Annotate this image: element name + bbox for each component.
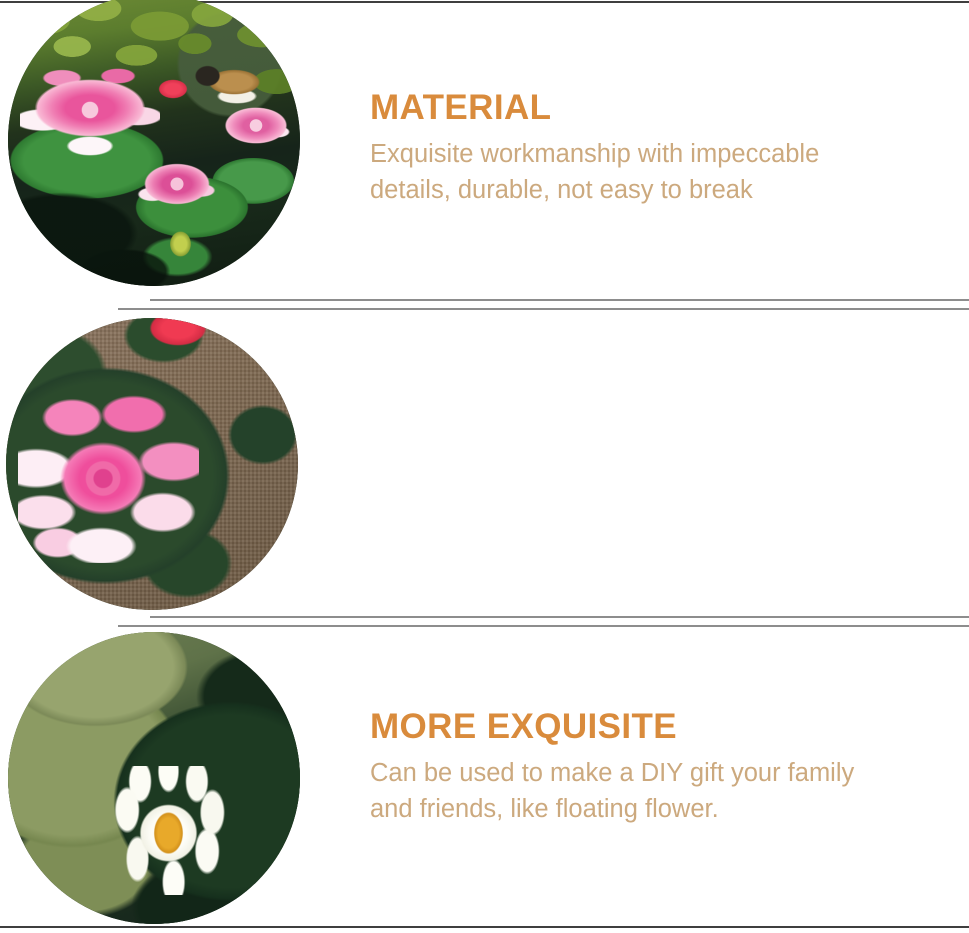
purple-flower — [240, 406, 298, 476]
section-divider-2 — [0, 616, 969, 630]
feature-section-material: MATERIAL Exquisite workmanship with impe… — [0, 0, 969, 301]
divider-line-upper — [150, 299, 969, 301]
pink-lotus-middle — [136, 152, 218, 216]
divider-line-lower — [118, 625, 969, 627]
divider-line-lower — [118, 308, 969, 310]
feature-heading: MATERIAL — [370, 88, 900, 127]
section-divider-1 — [0, 299, 969, 313]
lotus-pond-photo — [8, 0, 300, 286]
feature-section-practical: PRACTICAL Made of EVA material, practica… — [0, 634, 969, 926]
pink-lotus-large — [20, 58, 160, 157]
bottom-frame-rule — [0, 926, 969, 928]
feature-infographic: MATERIAL Exquisite workmanship with impe… — [0, 0, 969, 933]
lotus-bud — [166, 228, 195, 260]
divider-line-upper — [150, 616, 969, 618]
pink-lotus-closeup-photo — [6, 318, 298, 610]
pink-lotus-hero — [18, 394, 199, 563]
red-flower-top — [140, 318, 216, 347]
feature-copy-material: MATERIAL Exquisite workmanship with impe… — [370, 88, 900, 209]
white-lily-flower — [104, 766, 232, 894]
white-water-lily-photo — [8, 632, 300, 924]
pink-lotus-right — [218, 99, 294, 152]
feature-section-more-exquisite: MORE EXQUISITE Can be used to make a DIY… — [0, 317, 969, 618]
feature-body: Exquisite workmanship with impeccable de… — [370, 136, 862, 208]
